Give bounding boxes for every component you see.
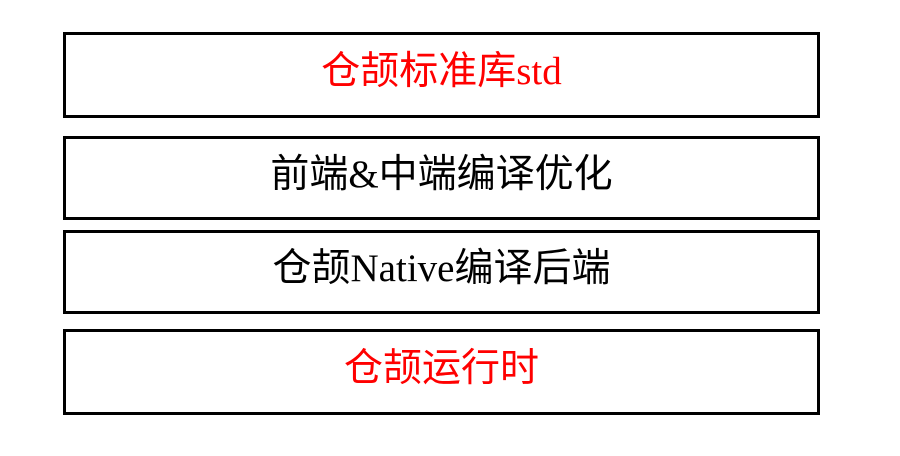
layer-box-native-backend[interactable]: 仓颉Native编译后端 [63, 230, 820, 314]
layer-label-runtime: 仓颉运行时 [66, 349, 817, 388]
layer-stack-diagram: 仓颉标准库std 前端&中端编译优化 仓颉Native编译后端 仓颉运行时 [0, 0, 900, 456]
layer-label-frontend-midend-optimization: 前端&中端编译优化 [66, 155, 817, 194]
layer-label-std-library: 仓颉标准库std [66, 52, 817, 91]
layer-box-std-library[interactable]: 仓颉标准库std [63, 32, 820, 118]
layer-label-native-backend: 仓颉Native编译后端 [66, 249, 817, 288]
layer-box-frontend-midend-optimization[interactable]: 前端&中端编译优化 [63, 136, 820, 220]
layer-box-runtime[interactable]: 仓颉运行时 [63, 329, 820, 415]
